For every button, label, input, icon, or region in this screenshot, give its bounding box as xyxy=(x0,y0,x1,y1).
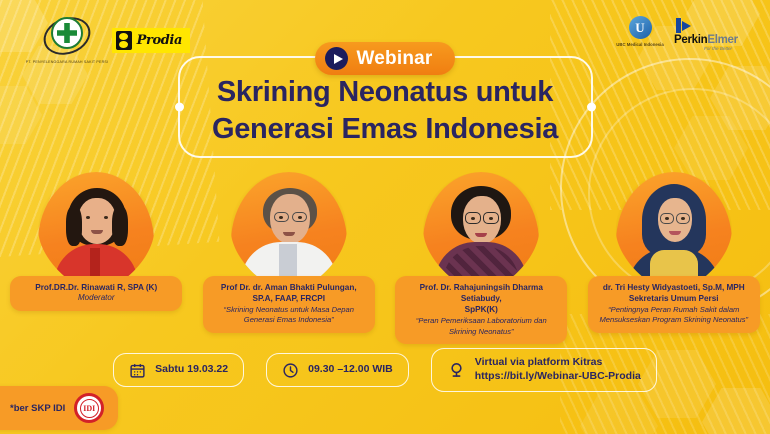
avatar xyxy=(231,172,347,290)
speaker-nameplate: dr. Tri Hesty Widyastoeti, Sp.M, MPH Sek… xyxy=(588,276,760,333)
avatar xyxy=(616,172,732,290)
speaker-name: dr. Tri Hesty Widyastoeti, Sp.M, MPH xyxy=(597,282,751,293)
webinar-badge: Webinar xyxy=(315,42,454,75)
ubc-mark-icon: U xyxy=(629,16,652,39)
speaker-role: Moderator xyxy=(19,293,173,304)
green-cross-icon xyxy=(57,23,77,43)
idi-logo-icon: IDI xyxy=(74,393,104,423)
play-icon xyxy=(325,47,348,70)
skp-badge: *ber SKP IDI IDI xyxy=(0,386,118,430)
speaker-name: Prof Dr. dr. Aman Bhakti Pulungan, SP.A,… xyxy=(212,282,366,304)
event-time: 09.30 –12.00 WIB xyxy=(308,363,393,377)
speaker-card: dr. Tri Hesty Widyastoeti, Sp.M, MPH Sek… xyxy=(579,172,769,333)
event-platform: Virtual via platform Kitras xyxy=(475,356,641,370)
page-title: Skrining Neonatus untuk Generasi Emas In… xyxy=(0,74,770,148)
speaker-nameplate: Prof Dr. dr. Aman Bhakti Pulungan, SP.A,… xyxy=(203,276,375,333)
speaker-card: Prof Dr. dr. Aman Bhakti Pulungan, SP.A,… xyxy=(194,172,384,333)
speaker-nameplate: Prof.DR.Dr. Rinawati R, SPA (K) Moderato… xyxy=(10,276,182,311)
skp-text: *ber SKP IDI xyxy=(10,403,65,414)
title-line-1: Skrining Neonatus untuk xyxy=(0,74,770,111)
event-location-chip[interactable]: Virtual via platform Kitras https://bit.… xyxy=(431,348,657,392)
clock-icon xyxy=(282,362,299,379)
idi-logo-label: IDI xyxy=(80,399,99,418)
speaker-role: Sekretaris Umum Persi xyxy=(597,293,751,304)
calendar-icon xyxy=(129,362,146,379)
speaker-name: Prof. Dr. Rahajuningsih Dharma Setiabudy… xyxy=(404,282,558,315)
title-line-2: Generasi Emas Indonesia xyxy=(0,111,770,148)
event-link[interactable]: https://bit.ly/Webinar-UBC-Prodia xyxy=(475,370,641,384)
speaker-name: Prof.DR.Dr. Rinawati R, SPA (K) xyxy=(19,282,173,293)
speaker-topic: “Peran Pemeriksaan Laboratorium dan Skri… xyxy=(404,316,558,337)
location-pin-icon xyxy=(447,361,466,380)
event-time-chip: 09.30 –12.00 WIB xyxy=(266,353,409,387)
webinar-poster: PT. PENYELENGGARA RUMAH SAKIT PERSI Prod… xyxy=(0,0,770,434)
event-info-row: Sabtu 19.03.22 09.30 –12.00 WIB Virtual … xyxy=(0,348,770,392)
speaker-card: Prof. Dr. Rahajuningsih Dharma Setiabudy… xyxy=(386,172,576,344)
speaker-nameplate: Prof. Dr. Rahajuningsih Dharma Setiabudy… xyxy=(395,276,567,344)
speaker-topic: “Skrining Neonatus untuk Masa Depan Gene… xyxy=(212,305,366,326)
event-date: Sabtu 19.03.22 xyxy=(155,363,228,377)
speaker-topic: “Pentingnya Peran Rumah Sakit dalam Mens… xyxy=(597,305,751,326)
event-date-chip: Sabtu 19.03.22 xyxy=(113,353,244,387)
perkinelmer-mark-icon xyxy=(676,18,691,33)
webinar-badge-wrap: Webinar xyxy=(0,42,770,75)
webinar-badge-label: Webinar xyxy=(356,48,432,70)
event-location-text: Virtual via platform Kitras https://bit.… xyxy=(475,356,641,384)
avatar xyxy=(38,172,154,290)
speaker-card: Prof.DR.Dr. Rinawati R, SPA (K) Moderato… xyxy=(1,172,191,311)
avatar xyxy=(423,172,539,290)
speaker-list: Prof.DR.Dr. Rinawati R, SPA (K) Moderato… xyxy=(0,172,770,347)
